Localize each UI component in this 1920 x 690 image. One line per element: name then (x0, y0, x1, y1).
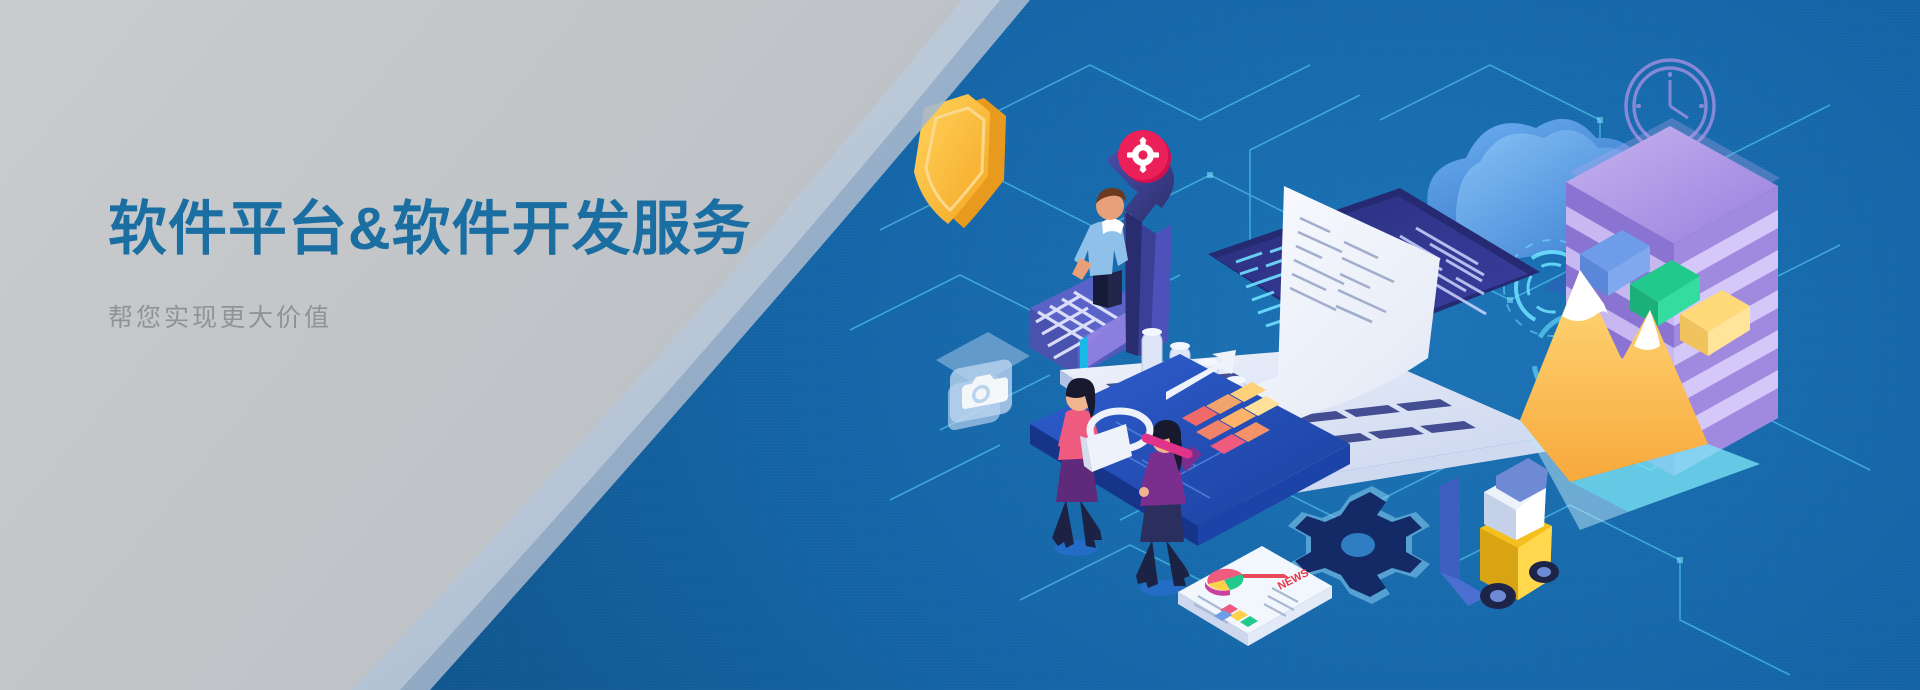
forklift-icon (1440, 458, 1559, 609)
left-panel (0, 0, 1100, 690)
copy-block: 软件平台&软件开发服务 帮您实现更大价值 (108, 196, 868, 334)
page-title: 软件平台&软件开发服务 (108, 196, 868, 262)
page-subtitle: 帮您实现更大价值 (108, 298, 868, 334)
hero-banner: NEWS (0, 0, 1920, 690)
